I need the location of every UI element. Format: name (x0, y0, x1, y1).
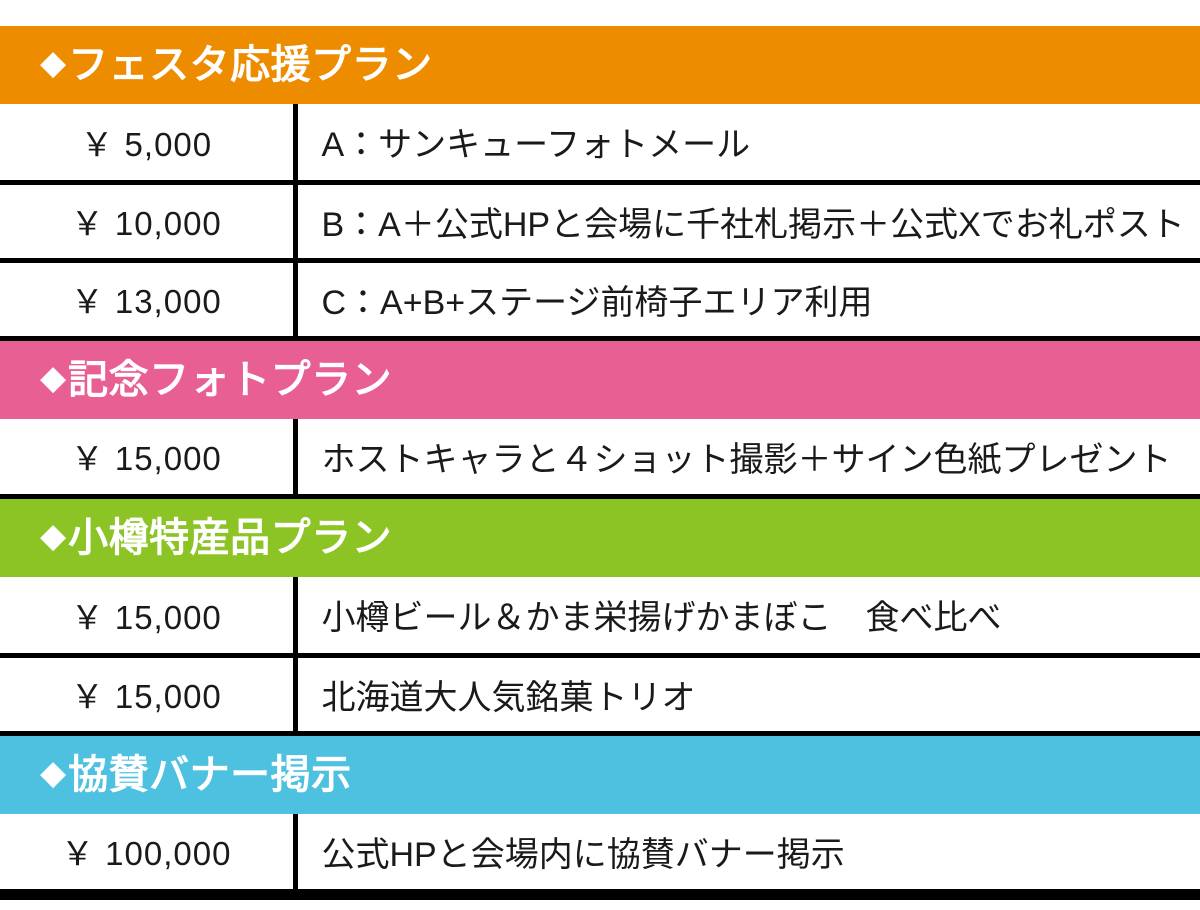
table-row: ￥ 100,000公式HPと会場内に協賛バナー掲示 (0, 814, 1200, 892)
plan-price-cell: ￥ 15,000 (0, 577, 295, 655)
section-band-festa: ◆フェスタ応援プラン (0, 26, 1200, 104)
diamond-bullet-icon: ◆ (40, 46, 66, 80)
plan-price-cell: ￥ 15,000 (0, 419, 295, 497)
plan-description-cell: B：A＋公式HPと会場に千社札掲示＋公式Xでお礼ポスト (295, 182, 1200, 260)
section-header-row-banner: ◆協賛バナー掲示 (0, 733, 1200, 814)
table-row: ￥ 5,000A：サンキューフォトメール (0, 104, 1200, 182)
section-header-cell-otaru: ◆小樽特産品プラン (0, 497, 1200, 578)
section-band-photo: ◆記念フォトプラン (0, 341, 1200, 419)
section-title-photo: 記念フォトプラン (68, 360, 392, 400)
plan-price-cell: ￥ 10,000 (0, 182, 295, 260)
plan-description-cell: A：サンキューフォトメール (295, 104, 1200, 182)
section-header-cell-festa: ◆フェスタ応援プラン (0, 26, 1200, 104)
section-band-banner: ◆協賛バナー掲示 (0, 736, 1200, 814)
table-row: ￥ 10,000B：A＋公式HPと会場に千社札掲示＋公式Xでお礼ポスト (0, 182, 1200, 260)
section-header-cell-photo: ◆記念フォトプラン (0, 338, 1200, 419)
table-row: ￥ 15,000ホストキャラと４ショット撮影＋サイン色紙プレゼント (0, 419, 1200, 497)
section-band-otaru: ◆小樽特産品プラン (0, 499, 1200, 577)
diamond-bullet-icon: ◆ (40, 519, 66, 553)
diamond-bullet-icon: ◆ (40, 756, 66, 790)
diamond-bullet-icon: ◆ (40, 361, 66, 395)
plan-price-cell: ￥ 100,000 (0, 814, 295, 892)
section-title-festa: フェスタ応援プラン (68, 45, 433, 85)
plan-description-cell: C：A+B+ステージ前椅子エリア利用 (295, 260, 1200, 338)
table-row: ￥ 15,000北海道大人気銘菓トリオ (0, 655, 1200, 733)
top-margin (0, 0, 1200, 26)
plan-price-cell: ￥ 15,000 (0, 655, 295, 733)
plan-table-body: ◆フェスタ応援プラン￥ 5,000A：サンキューフォトメール￥ 10,000B：… (0, 26, 1200, 892)
sponsor-plan-table: ◆フェスタ応援プラン￥ 5,000A：サンキューフォトメール￥ 10,000B：… (0, 26, 1200, 894)
plan-description-cell: 小樽ビール＆かま栄揚げかまぼこ 食べ比べ (295, 577, 1200, 655)
section-header-row-otaru: ◆小樽特産品プラン (0, 497, 1200, 578)
sponsor-plan-sheet: ◆フェスタ応援プラン￥ 5,000A：サンキューフォトメール￥ 10,000B：… (0, 0, 1200, 910)
section-header-row-photo: ◆記念フォトプラン (0, 338, 1200, 419)
table-row: ￥ 15,000小樽ビール＆かま栄揚げかまぼこ 食べ比べ (0, 577, 1200, 655)
table-row: ￥ 13,000C：A+B+ステージ前椅子エリア利用 (0, 260, 1200, 338)
section-header-row-festa: ◆フェスタ応援プラン (0, 26, 1200, 104)
plan-description-cell: 北海道大人気銘菓トリオ (295, 655, 1200, 733)
section-title-otaru: 小樽特産品プラン (68, 518, 392, 558)
plan-description-cell: 公式HPと会場内に協賛バナー掲示 (295, 814, 1200, 892)
plan-price-cell: ￥ 5,000 (0, 104, 295, 182)
section-title-banner: 協賛バナー掲示 (68, 755, 352, 795)
section-header-cell-banner: ◆協賛バナー掲示 (0, 733, 1200, 814)
plan-price-cell: ￥ 13,000 (0, 260, 295, 338)
table-bottom-rule (0, 894, 1200, 900)
plan-description-cell: ホストキャラと４ショット撮影＋サイン色紙プレゼント (295, 419, 1200, 497)
